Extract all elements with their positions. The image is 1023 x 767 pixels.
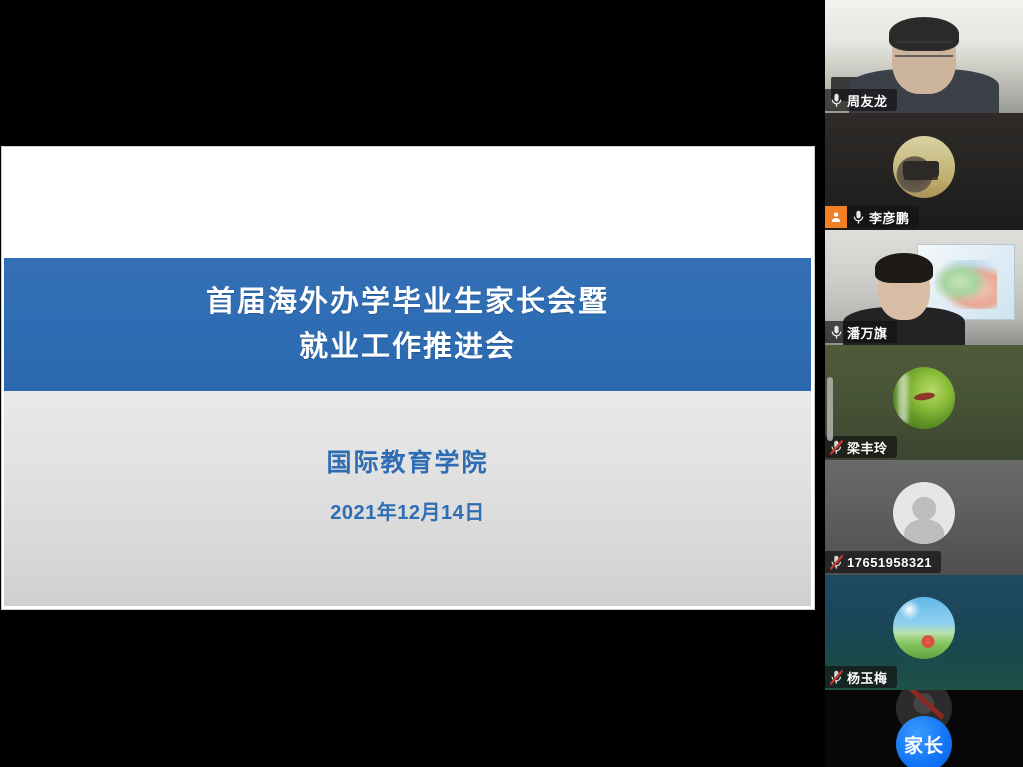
participant-name: 周友龙 — [847, 91, 888, 110]
participant-name: 李彦鹏 — [869, 208, 910, 227]
filmstrip-scrollbar[interactable] — [826, 0, 834, 767]
slide-date: 2021年12月14日 — [330, 496, 484, 525]
participant-name: 潘万旗 — [847, 323, 888, 342]
presentation-slide: 首届海外办学毕业生家长会暨 就业工作推进会 国际教育学院 2021年12月14日 — [4, 149, 811, 606]
avatar — [893, 597, 955, 659]
participant-tile[interactable]: 周友龙 — [825, 0, 1023, 113]
participant-tile[interactable]: 杨玉梅 — [825, 575, 1023, 690]
filmstrip-scrollbar-thumb[interactable] — [827, 377, 833, 441]
participant-name-bar: 李彦鹏 — [825, 206, 919, 228]
slide-organization: 国际教育学院 — [326, 443, 488, 479]
avatar — [893, 367, 955, 429]
participant-name: 17651958321 — [847, 555, 932, 570]
participant-tile[interactable]: 李彦鹏 — [825, 113, 1023, 230]
video-conference-window: 首届海外办学毕业生家长会暨 就业工作推进会 国际教育学院 2021年12月14日 — [0, 0, 1023, 767]
person-hair — [875, 253, 933, 283]
avatar — [893, 136, 955, 198]
person-glasses — [895, 41, 953, 57]
slide-title-band: 首届海外办学毕业生家长会暨 就业工作推进会 — [4, 258, 811, 391]
participant-name-bar: 杨玉梅 — [825, 666, 897, 688]
participant-name: 梁丰玲 — [847, 438, 888, 457]
slide-title-line-2: 就业工作推进会 — [299, 325, 516, 370]
participant-filmstrip[interactable]: 周友龙 — [825, 0, 1023, 767]
slide-lower-section: 国际教育学院 2021年12月14日 — [4, 391, 811, 606]
participant-name-bar: 梁丰玲 — [825, 436, 897, 458]
participant-tile[interactable]: 家长 — [825, 690, 1023, 767]
participant-name: 杨玉梅 — [847, 668, 888, 687]
microphone-icon[interactable] — [847, 206, 869, 228]
shared-screen-stage: 首届海外办学毕业生家长会暨 就业工作推进会 国际教育学院 2021年12月14日 — [0, 0, 825, 767]
shared-slide-frame[interactable]: 首届海外办学毕业生家长会暨 就业工作推进会 国际教育学院 2021年12月14日 — [2, 147, 814, 609]
participant-name-bar: 17651958321 — [825, 551, 941, 573]
slide-top-whitespace — [4, 149, 811, 258]
slide-title-line-1: 首届海外办学毕业生家长会暨 — [206, 280, 609, 325]
avatar — [893, 482, 955, 544]
participant-name-bar: 周友龙 — [825, 89, 897, 111]
participant-tile[interactable]: 梁丰玲 — [825, 345, 1023, 460]
avatar: 家长 — [893, 694, 955, 756]
participant-tile[interactable]: 17651958321 — [825, 460, 1023, 575]
avatar-label-badge: 家长 — [896, 716, 952, 767]
participant-name-bar: 潘万旗 — [825, 321, 897, 343]
participant-tile[interactable]: 潘万旗 — [825, 230, 1023, 345]
participant-video-placeholder: 家长 — [825, 690, 1023, 767]
